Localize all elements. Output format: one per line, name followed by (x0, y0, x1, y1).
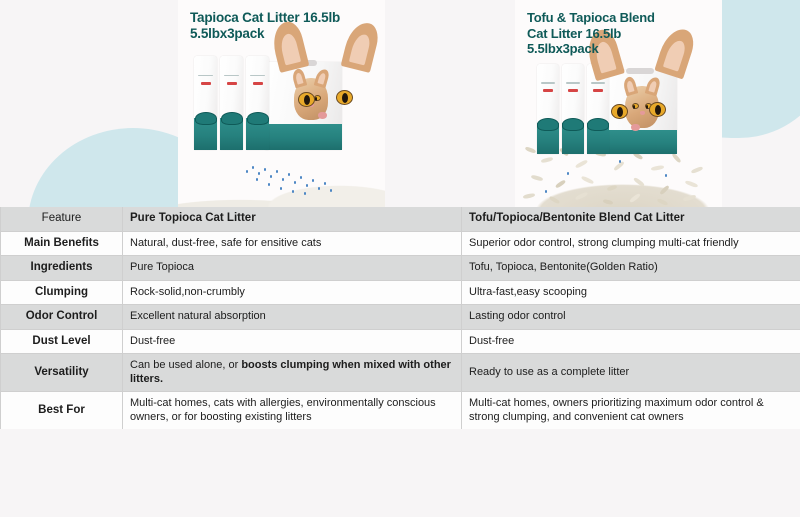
table-row: Versatility Can be used alone, or boosts… (1, 354, 800, 392)
header-column-a: Pure Topioca Cat Litter (123, 207, 462, 231)
row-value-b: Superior odor control, strong clumping m… (462, 231, 800, 256)
product-bottle-3-left (246, 56, 269, 150)
row-feature-label: Dust Level (1, 329, 123, 354)
row-feature-label: Odor Control (1, 305, 123, 330)
table-row: Clumping Rock-solid,non-crumbly Ultra-fa… (1, 280, 800, 305)
row-value-a: Rock-solid,non-crumbly (123, 280, 462, 305)
cat-photo-left (278, 52, 374, 170)
product-bottle-2-right (562, 64, 584, 154)
row-feature-label: Versatility (1, 354, 123, 392)
table-row: Ingredients Pure Topioca Tofu, Topioca, … (1, 256, 800, 281)
row-value-b: Dust-free (462, 329, 800, 354)
row-value-b: Ready to use as a complete litter (462, 354, 800, 392)
product-title-left: Tapioca Cat Litter 16.5lb 5.5lbx3pack (190, 10, 381, 41)
product-bottle-1-left (194, 56, 217, 150)
row-value-a: Natural, dust-free, safe for ensitive ca… (123, 231, 462, 256)
table-row: Dust Level Dust-free Dust-free (1, 329, 800, 354)
product-card-right[interactable]: Tofu & Tapioca Blend Cat Litter 16.5lb 5… (515, 0, 722, 207)
row-value-a: Pure Topioca (123, 256, 462, 281)
table-header-row: Feature Pure Topioca Cat Litter Tofu/Top… (1, 207, 800, 231)
comparison-table: Feature Pure Topioca Cat Litter Tofu/Top… (0, 207, 800, 429)
row-value-a: Excellent natural absorption (123, 305, 462, 330)
product-bottle-2-left (220, 56, 243, 150)
row-value-b: Multi-cat homes, owners prioritizing max… (462, 392, 800, 430)
row-value-a-prefix: Can be used alone, or (130, 359, 241, 371)
product-bottle-1-right (537, 64, 559, 154)
header-column-b: Tofu/Topioca/Bentonite Blend Cat Litter (462, 207, 800, 231)
row-value-a: Can be used alone, or boosts clumping wh… (123, 354, 462, 392)
cat-photo-right (593, 62, 689, 180)
table-row: Odor Control Excellent natural absorptio… (1, 305, 800, 330)
row-value-a: Multi-cat homes, cats with allergies, en… (123, 392, 462, 430)
table-row: Main Benefits Natural, dust-free, safe f… (1, 231, 800, 256)
row-value-b: Lasting odor control (462, 305, 800, 330)
row-feature-label: Best For (1, 392, 123, 430)
row-feature-label: Main Benefits (1, 231, 123, 256)
product-card-left[interactable]: Tapioca Cat Litter 16.5lb 5.5lbx3pack (178, 0, 385, 207)
row-feature-label: Ingredients (1, 256, 123, 281)
hero-banner: Tapioca Cat Litter 16.5lb 5.5lbx3pack (0, 0, 800, 207)
row-value-b: Tofu, Topioca, Bentonite(Golden Ratio) (462, 256, 800, 281)
row-value-b: Ultra-fast,easy scooping (462, 280, 800, 305)
product-title-right: Tofu & Tapioca Blend Cat Litter 16.5lb 5… (527, 10, 718, 57)
row-value-a: Dust-free (123, 329, 462, 354)
table-row: Best For Multi-cat homes, cats with alle… (1, 392, 800, 430)
header-feature: Feature (1, 207, 123, 231)
row-feature-label: Clumping (1, 280, 123, 305)
